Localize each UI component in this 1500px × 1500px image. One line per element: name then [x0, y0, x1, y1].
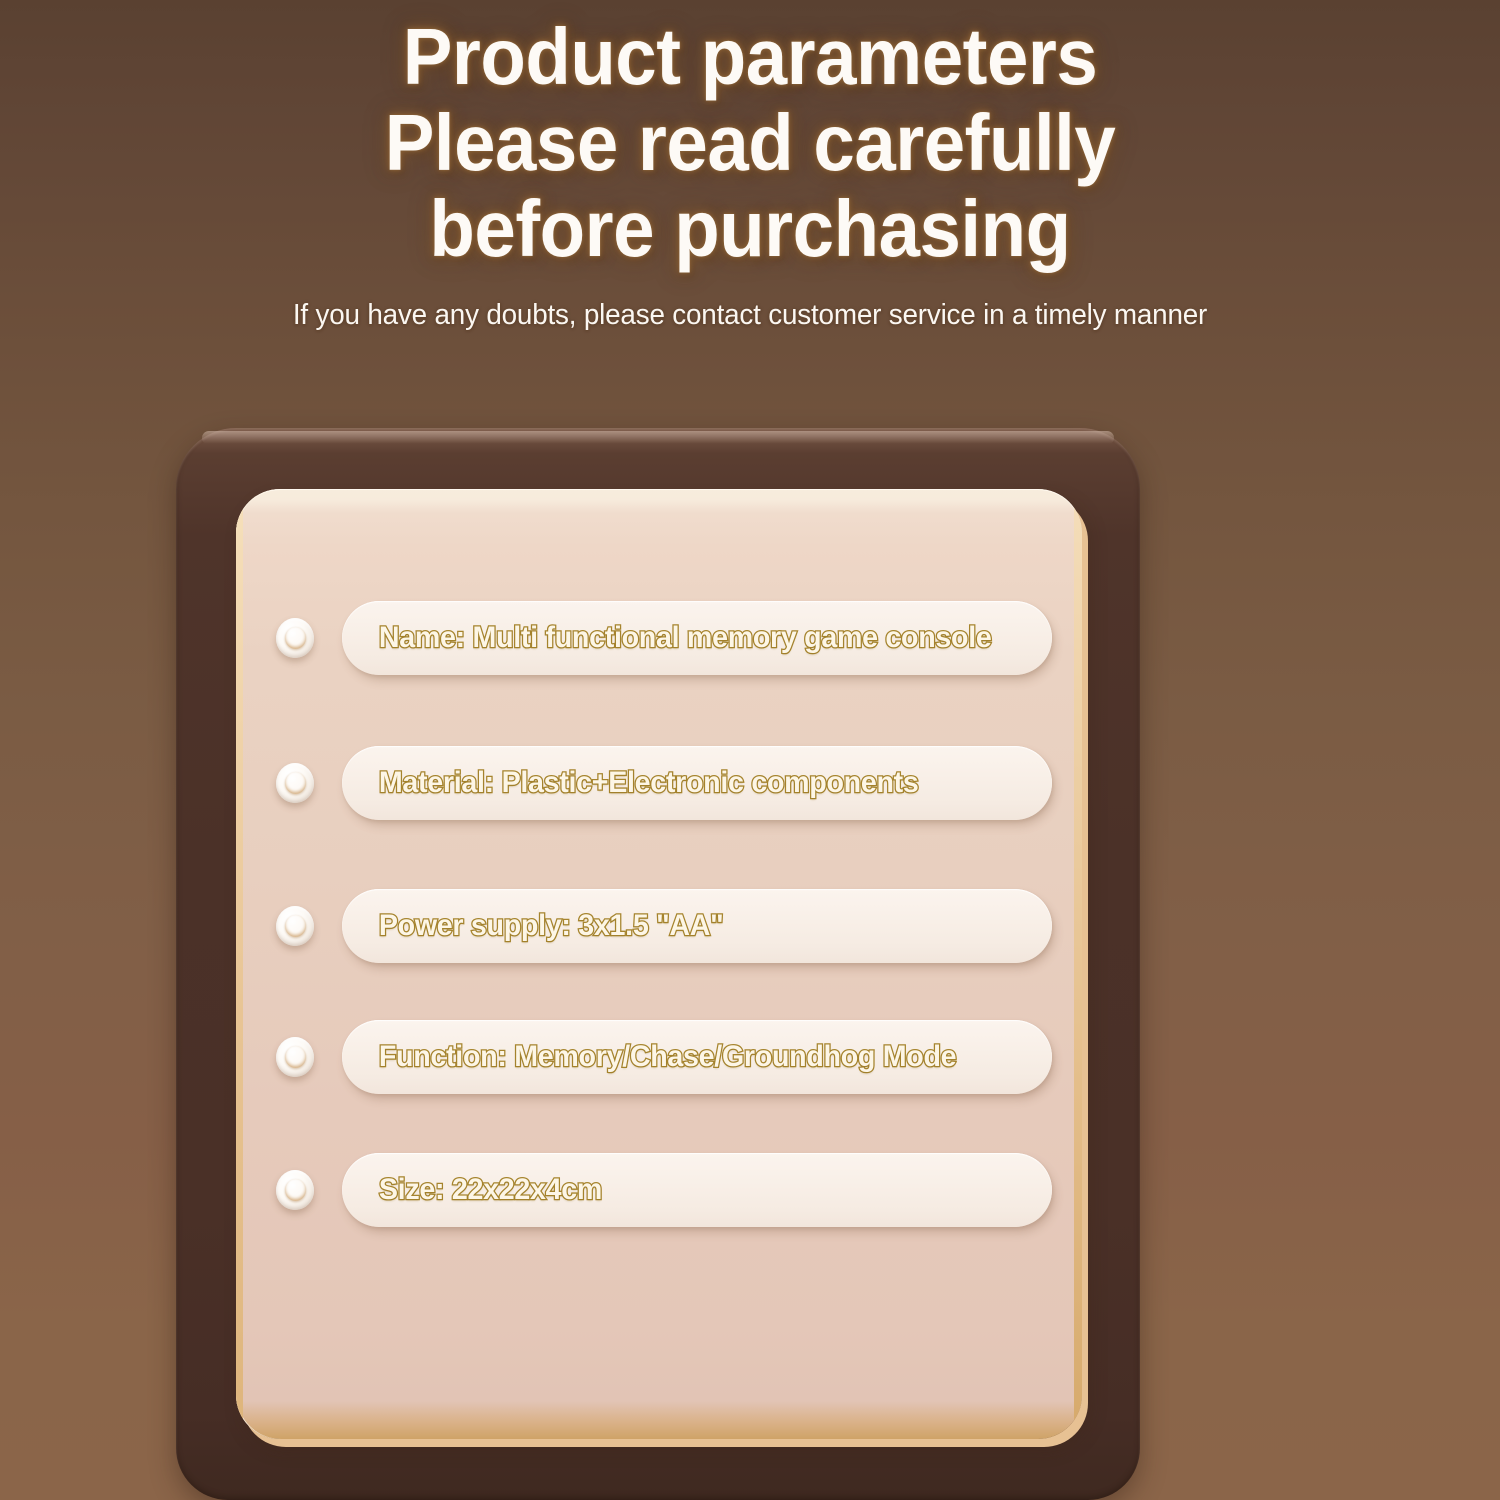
- parameter-pill: Function: Memory/Chase/Groundhog Mode: [342, 1020, 1052, 1094]
- list-item: Name: Multi functional memory game conso…: [276, 601, 1052, 675]
- list-item: Function: Memory/Chase/Groundhog Mode: [276, 1020, 1052, 1094]
- parameter-text: Name: Multi functional memory game conso…: [342, 601, 1013, 675]
- list-item: Power supply: 3x1.5 "AA": [276, 889, 1052, 963]
- parameter-text: Power supply: 3x1.5 "AA": [342, 889, 745, 963]
- title-line-2: Please read carefully: [239, 100, 1262, 186]
- parameter-text: Size: 22x22x4cm: [342, 1153, 623, 1227]
- fried-egg-icon: [276, 1170, 314, 1210]
- parameter-pill: Name: Multi functional memory game conso…: [342, 601, 1052, 675]
- parameter-pill: Material: Plastic+Electronic components: [342, 746, 1052, 820]
- fried-egg-icon: [276, 618, 314, 658]
- fried-egg-icon: [276, 906, 314, 946]
- title-line-3: before purchasing: [239, 186, 1262, 272]
- page-title: Product parameters Please read carefully…: [200, 14, 1300, 272]
- subtitle: If you have any doubts, please contact c…: [30, 298, 1470, 332]
- list-item: Material: Plastic+Electronic components: [276, 746, 1052, 820]
- parameter-text: Function: Memory/Chase/Groundhog Mode: [342, 1020, 978, 1094]
- header: Product parameters Please read carefully…: [0, 0, 1500, 332]
- fried-egg-icon: [276, 1037, 314, 1077]
- fried-egg-icon: [276, 763, 314, 803]
- list-item: Size: 22x22x4cm: [276, 1153, 1052, 1227]
- parameter-text: Material: Plastic+Electronic components: [342, 746, 940, 820]
- parameter-pill: Power supply: 3x1.5 "AA": [342, 889, 1052, 963]
- title-line-1: Product parameters: [239, 14, 1262, 100]
- parameter-pill: Size: 22x22x4cm: [342, 1153, 1052, 1227]
- parameter-list: Name: Multi functional memory game conso…: [236, 489, 1082, 1439]
- product-parameters-infographic: Product parameters Please read carefully…: [0, 0, 1500, 1500]
- parameter-panel: Name: Multi functional memory game conso…: [236, 489, 1082, 1439]
